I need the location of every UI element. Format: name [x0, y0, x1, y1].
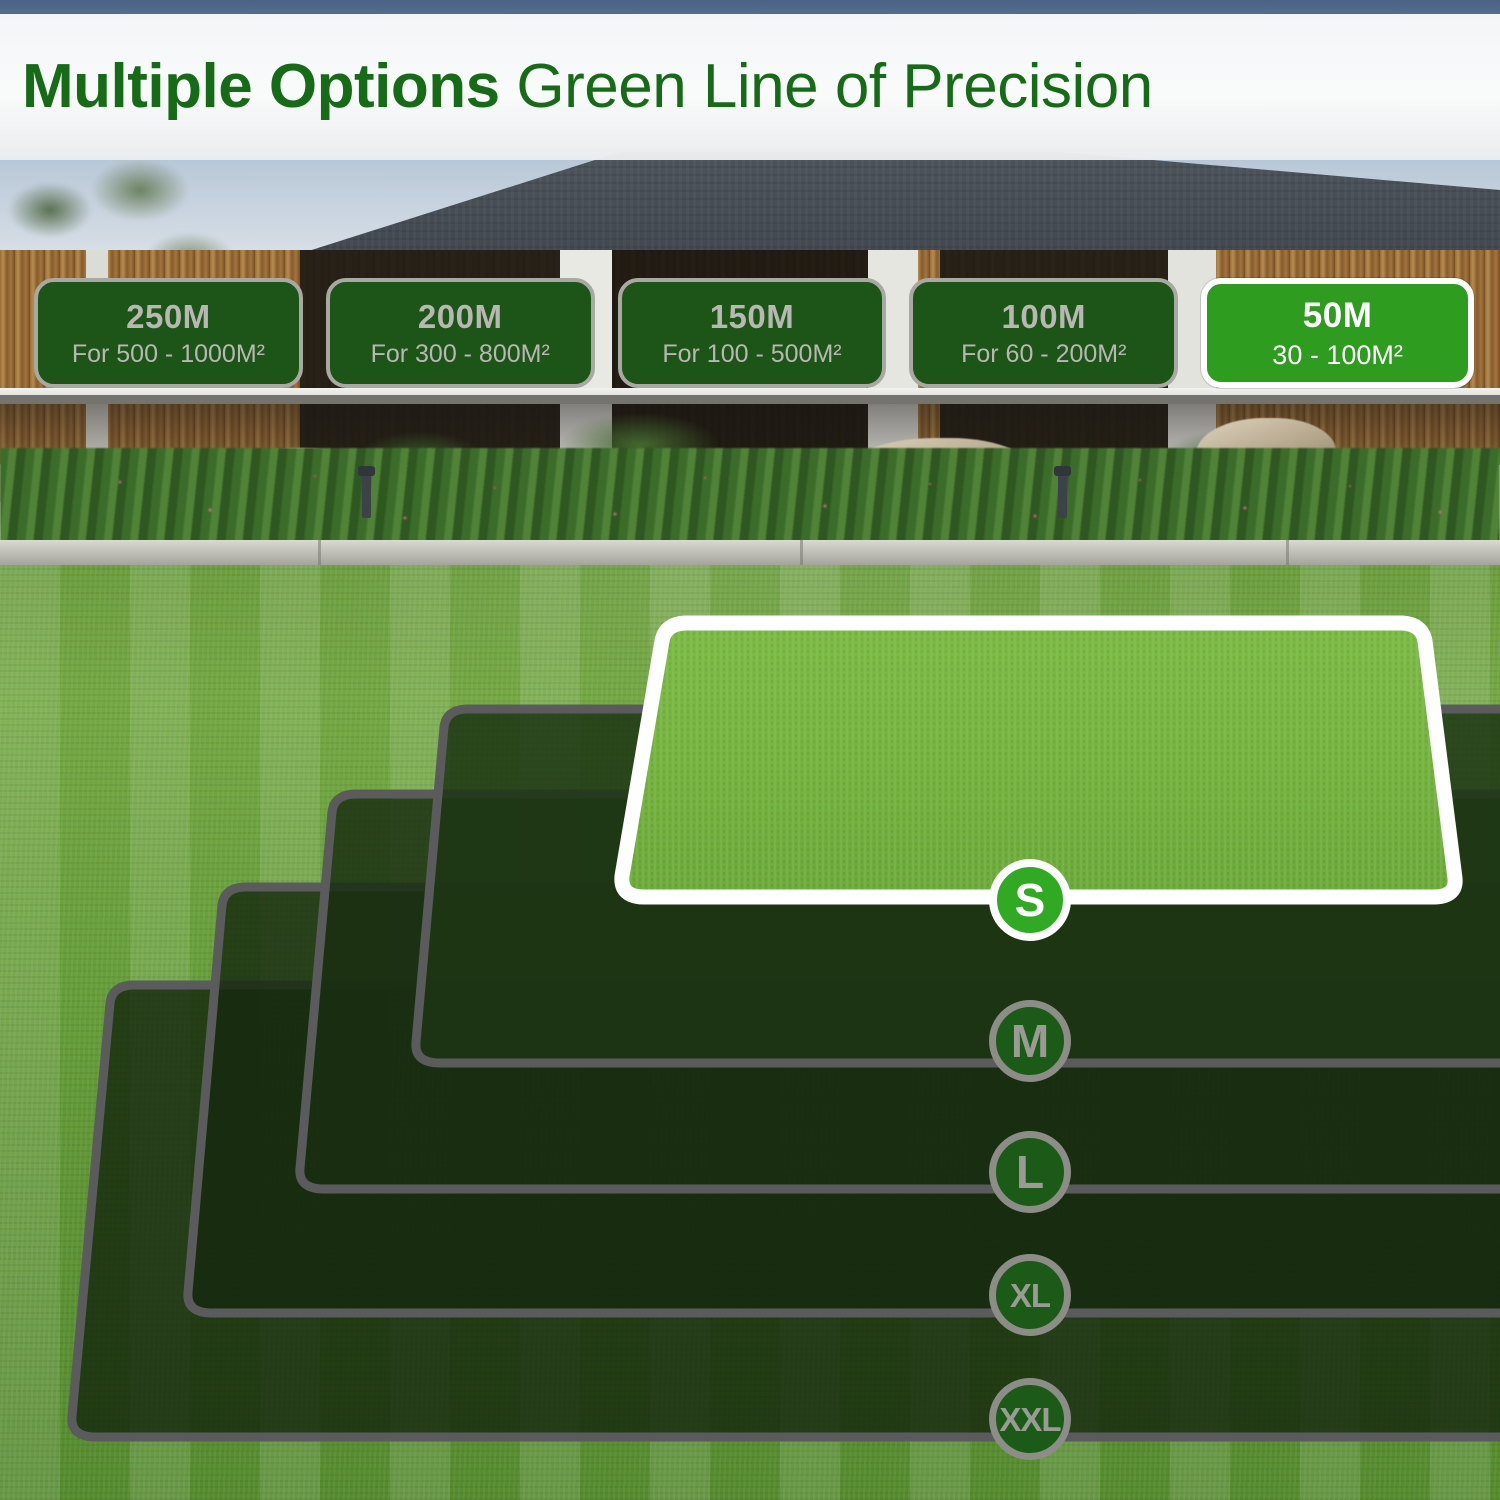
coverage-badge-200m[interactable]: 200M For 300 - 800M²: [326, 278, 595, 388]
product-feature-image: S M L XL XXL 250M For 500 - 1000M² 200M …: [0, 0, 1500, 1500]
badge-coverage: 30 - 100M²: [1272, 342, 1403, 369]
badge-coverage: For 100 - 500M²: [662, 342, 841, 367]
title-bold: Multiple Options: [22, 52, 500, 121]
size-marker-s[interactable]: S: [989, 859, 1071, 941]
badge-length: 200M: [418, 300, 503, 333]
size-marker-label: M: [1011, 1018, 1049, 1064]
badge-length: 50M: [1303, 298, 1373, 333]
badge-length: 150M: [710, 300, 795, 333]
title-regular: Green Line of Precision: [516, 52, 1152, 121]
size-marker-m[interactable]: M: [989, 1000, 1071, 1082]
coverage-zone-diagram: [0, 0, 1500, 1500]
badge-coverage: For 500 - 1000M²: [72, 342, 265, 367]
size-marker-label: S: [1015, 877, 1046, 923]
size-marker-xl[interactable]: XL: [989, 1254, 1071, 1336]
coverage-badge-50m[interactable]: 50M 30 - 100M²: [1201, 278, 1474, 388]
size-marker-xxl[interactable]: XXL: [989, 1378, 1071, 1460]
coverage-badge-100m[interactable]: 100M For 60 - 200M²: [909, 278, 1178, 388]
zone-s-texture: [622, 623, 1455, 897]
size-marker-label: XL: [1010, 1279, 1050, 1312]
badge-length: 250M: [126, 300, 211, 333]
header-banner: Multiple Options Green Line of Precision: [0, 14, 1500, 160]
coverage-badge-250m[interactable]: 250M For 500 - 1000M²: [34, 278, 303, 388]
size-marker-l[interactable]: L: [989, 1131, 1071, 1213]
page-title: Multiple Options Green Line of Precision: [22, 56, 1153, 118]
badge-length: 100M: [1002, 300, 1087, 333]
badge-coverage: For 60 - 200M²: [961, 342, 1126, 367]
coverage-badge-row: 250M For 500 - 1000M² 200M For 300 - 800…: [34, 278, 1474, 388]
coverage-badge-150m[interactable]: 150M For 100 - 500M²: [618, 278, 887, 388]
size-marker-label: L: [1016, 1149, 1044, 1195]
badge-coverage: For 300 - 800M²: [371, 342, 550, 367]
size-marker-label: XXL: [999, 1403, 1060, 1436]
